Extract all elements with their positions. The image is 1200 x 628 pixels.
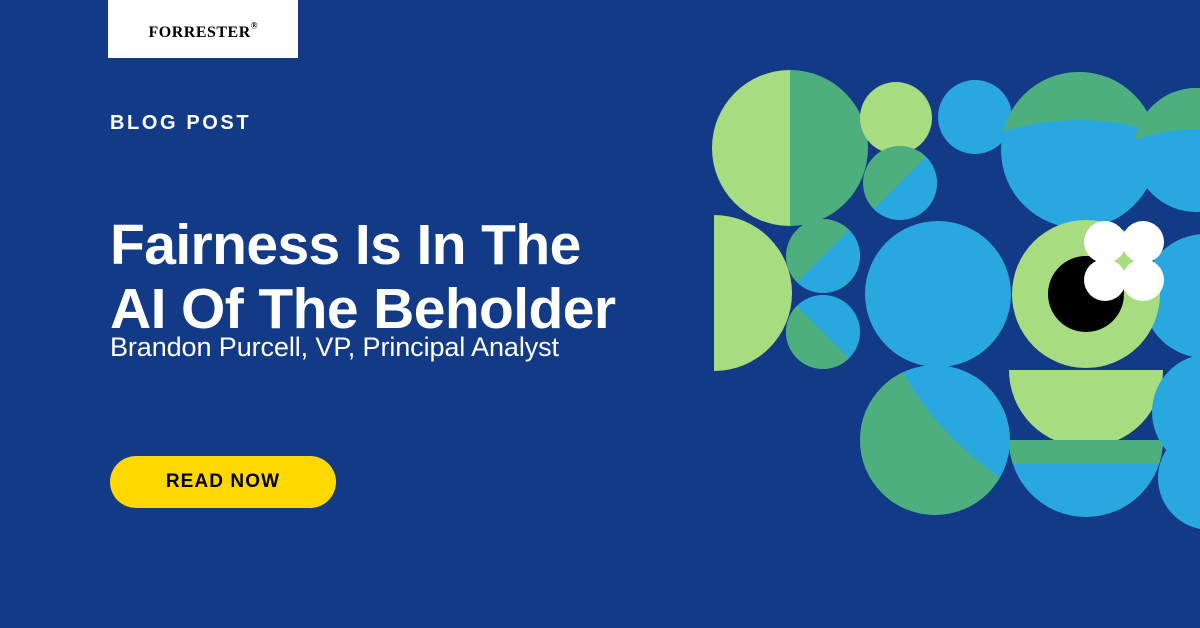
shape-c4-diagonal-circle xyxy=(863,146,937,220)
shape-c14-sparkle-top-right xyxy=(1122,221,1164,263)
blog-post-promo-banner: Forrester® BLOG POST Fairness Is In The … xyxy=(0,0,1200,628)
shape-c9-diagonal-circle xyxy=(786,295,860,369)
shape-c10-big-blue-circle xyxy=(865,221,1011,367)
abstract-circles-eye-illustration xyxy=(700,0,1200,628)
author-byline: Brandon Purcell, VP, Principal Analyst xyxy=(110,331,559,363)
page-title: Fairness Is In The AI Of The Beholder xyxy=(110,213,710,341)
shape-c15-sparkle-bottom-left xyxy=(1084,259,1126,301)
shape-c7-left-dome xyxy=(714,215,792,371)
shape-c18-diagonal-big-circle xyxy=(860,365,1010,515)
shape-c2-small-green-circle xyxy=(860,82,932,154)
shape-c5-horizontal-split-circle xyxy=(1001,72,1157,228)
promo-text-column: BLOG POST Fairness Is In The AI Of The B… xyxy=(110,0,710,628)
shape-c16-sparkle-bottom-right xyxy=(1122,259,1164,301)
shape-c3-small-blue-circle xyxy=(938,80,1012,154)
read-now-button[interactable]: READ NOW xyxy=(110,456,336,508)
content-type-eyebrow: BLOG POST xyxy=(110,113,251,133)
shape-c1-split-circle xyxy=(712,70,868,226)
shape-c6-edge-split-circle xyxy=(1134,88,1200,212)
shape-c19-green-dome xyxy=(1009,370,1163,447)
headline-line-1: Fairness Is In The xyxy=(110,213,710,277)
shape-c20-blue-dome xyxy=(1009,440,1163,517)
shape-c13-sparkle-top-left xyxy=(1084,221,1126,263)
shape-c8-diagonal-circle xyxy=(786,219,860,293)
